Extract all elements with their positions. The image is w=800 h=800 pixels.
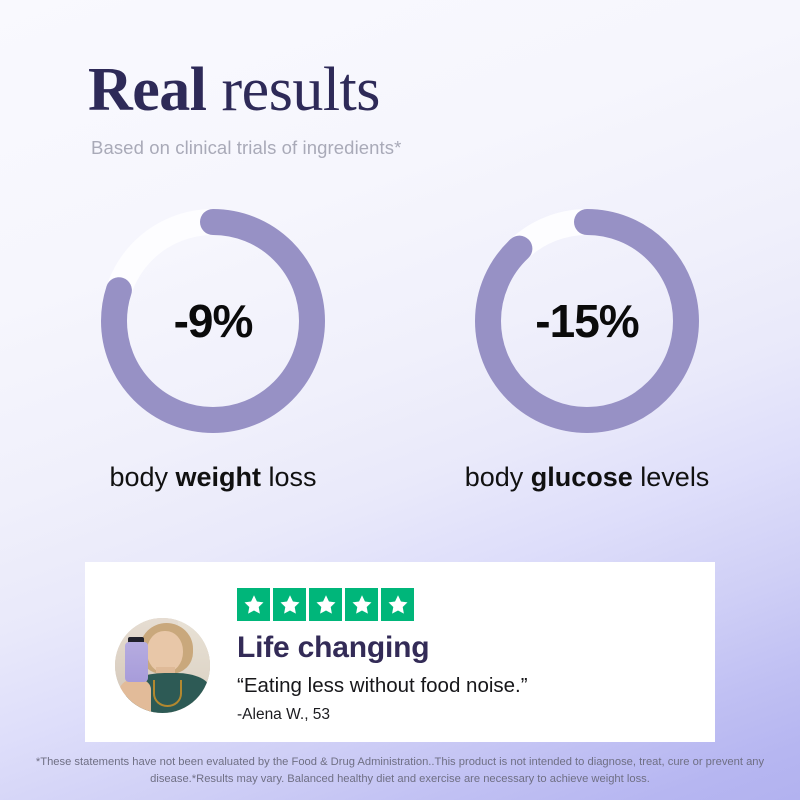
donut-value-glucose: -15% <box>462 196 712 446</box>
testimonial-author: -Alena W., 53 <box>237 706 715 724</box>
stat-label-weight-prefix: body <box>109 462 175 492</box>
headline-light: results <box>222 56 380 124</box>
testimonial-quote: “Eating less without food noise.” <box>237 674 715 698</box>
star-icon <box>309 588 342 621</box>
stat-weight-loss: -9% body weight loss <box>58 196 368 493</box>
stat-label-glucose-prefix: body <box>465 462 531 492</box>
avatar-arm <box>119 680 151 712</box>
stat-label-glucose-emphasis: glucose <box>531 462 633 492</box>
star-icon <box>273 588 306 621</box>
donut-chart-weight: -9% <box>88 196 338 446</box>
star-rating <box>237 588 715 621</box>
star-icon <box>345 588 378 621</box>
stat-label-glucose: body glucose levels <box>465 462 710 493</box>
testimonial-title: Life changing <box>237 631 715 665</box>
testimonial-card: Life changing “Eating less without food … <box>85 562 715 742</box>
stat-label-weight-emphasis: weight <box>176 462 262 492</box>
avatar-supplement-bottle <box>125 642 149 682</box>
stat-label-weight: body weight loss <box>109 462 316 493</box>
stat-glucose-levels: -15% body glucose levels <box>432 196 742 493</box>
testimonial-body: Life changing “Eating less without food … <box>237 588 715 724</box>
avatar <box>115 618 210 713</box>
star-icon <box>381 588 414 621</box>
legal-disclaimer: *These statements have not been evaluate… <box>0 754 800 788</box>
promo-infographic: Real results Based on clinical trials of… <box>0 0 800 800</box>
donut-value-weight: -9% <box>88 196 338 446</box>
donut-chart-glucose: -15% <box>462 196 712 446</box>
page-title: Real results <box>88 58 728 123</box>
header: Real results Based on clinical trials of… <box>88 58 728 159</box>
star-icon <box>237 588 270 621</box>
headline-strong: Real <box>88 56 207 124</box>
avatar-necklace <box>153 680 182 707</box>
stat-label-glucose-suffix: levels <box>633 462 710 492</box>
stat-label-weight-suffix: loss <box>261 462 317 492</box>
page-subtitle: Based on clinical trials of ingredients* <box>91 137 728 159</box>
stats-row: -9% body weight loss -15% body glucose l… <box>0 196 800 493</box>
